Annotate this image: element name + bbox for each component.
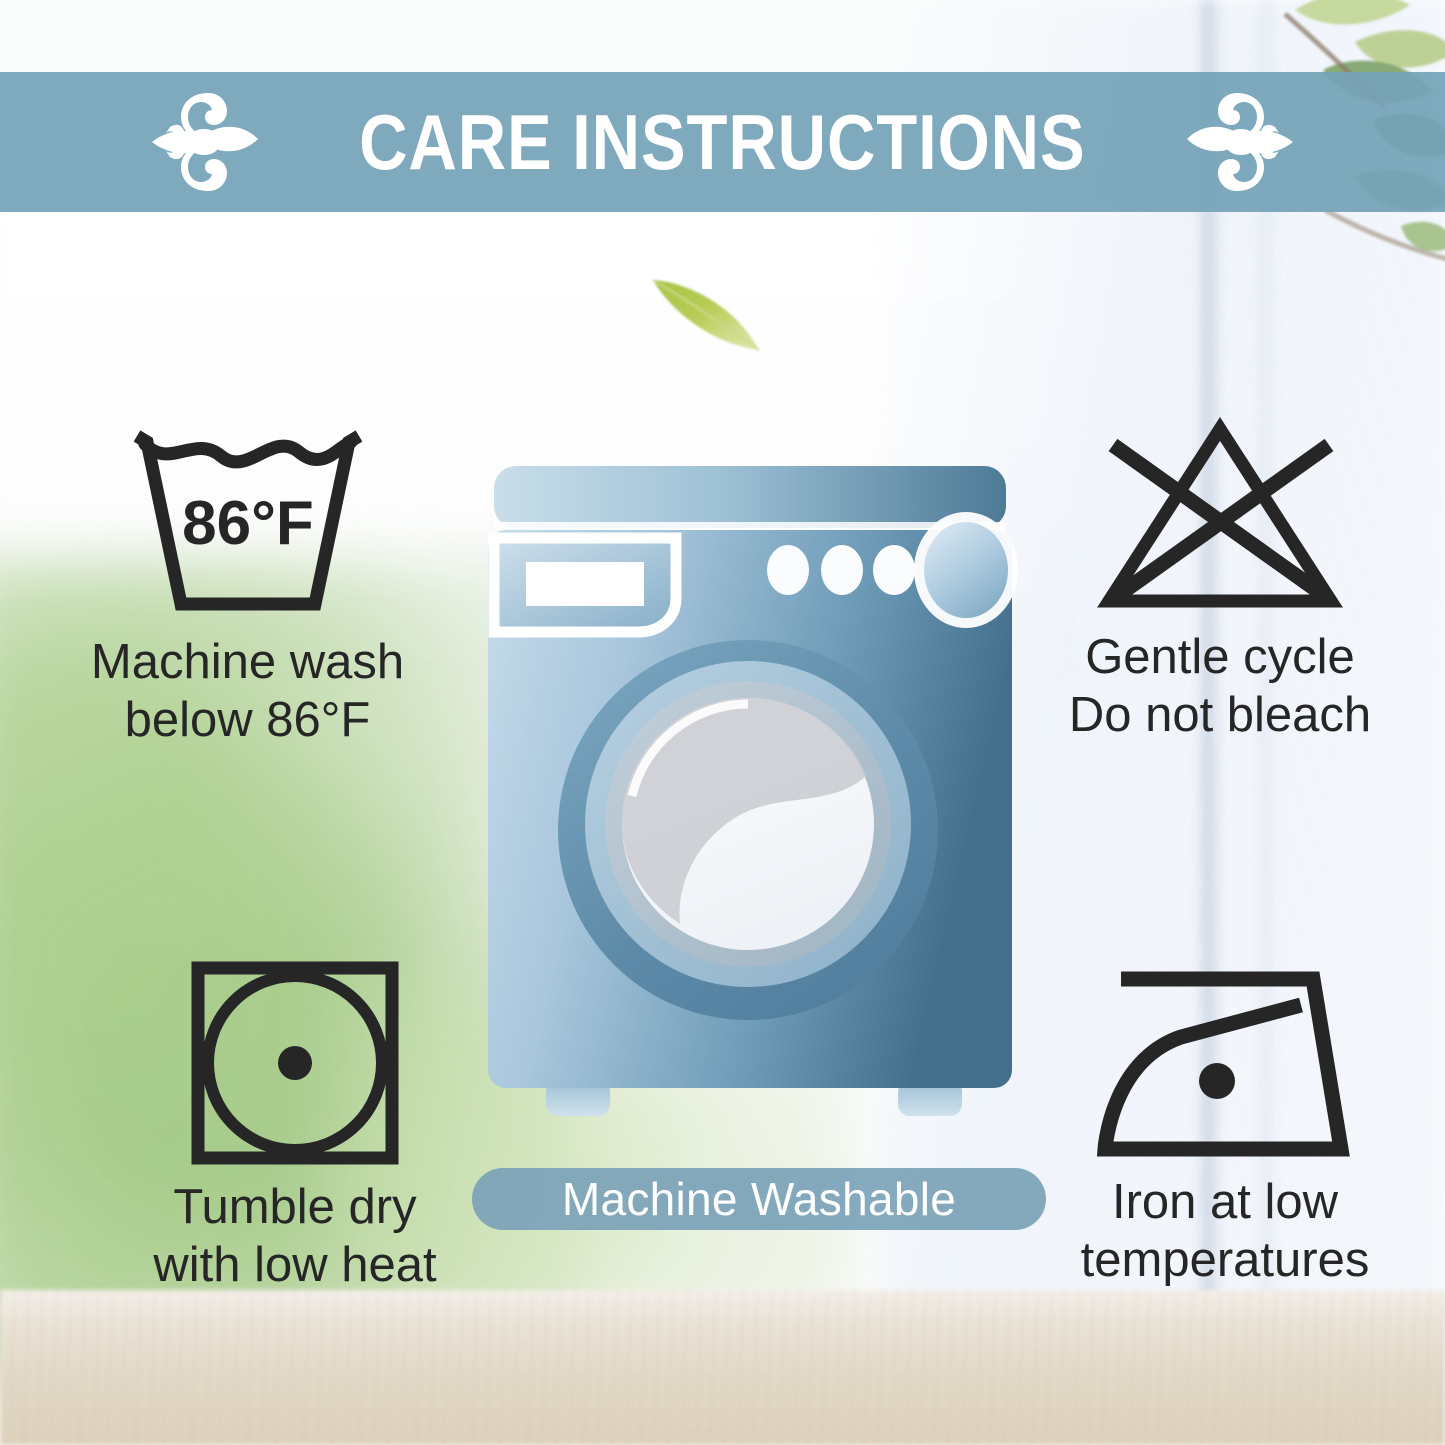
wood-grain-texture xyxy=(0,1290,1445,1445)
leaf-svg xyxy=(645,272,767,358)
care-symbol-iron-low: Iron at low temperatures xyxy=(1010,965,1440,1290)
wash-temperature-value: 86°F xyxy=(182,489,314,558)
detergent-drawer[interactable] xyxy=(494,538,676,632)
iron-one-dot-icon xyxy=(1095,965,1355,1160)
care-label-tumble-dry: Tumble dry with low heat xyxy=(153,1179,436,1295)
control-knob[interactable] xyxy=(914,512,1018,628)
leaf-icon xyxy=(645,272,767,358)
care-symbol-machine-wash: 86°F Machine wash below 86°F xyxy=(25,420,470,750)
care-symbol-tumble-dry: Tumble dry with low heat xyxy=(75,960,515,1295)
header-banner: CARE INSTRUCTIONS xyxy=(0,72,1445,212)
control-button[interactable] xyxy=(767,545,809,595)
fleur-de-lis-icon xyxy=(1179,87,1299,197)
care-label-do-not-bleach: Gentle cycle Do not bleach xyxy=(1069,629,1371,745)
drawer-slot xyxy=(526,562,644,606)
washing-machine-svg xyxy=(480,452,1020,1132)
care-label-iron-low: Iron at low temperatures xyxy=(1081,1174,1370,1290)
fleur-de-lis-icon xyxy=(146,87,266,197)
washing-machine-illustration xyxy=(480,452,1020,1132)
tumble-dry-square-circle-icon xyxy=(188,960,403,1165)
machine-door[interactable] xyxy=(558,640,938,1020)
machine-top-seam xyxy=(494,522,1006,529)
infographic-canvas: CARE INSTRUCTIONS xyxy=(0,0,1445,1445)
control-button[interactable] xyxy=(821,545,863,595)
machine-top-panel xyxy=(494,466,1006,528)
page-title: CARE INSTRUCTIONS xyxy=(359,103,1085,181)
status-badge: Machine Washable xyxy=(472,1168,1046,1230)
care-symbol-do-not-bleach: Gentle cycle Do not bleach xyxy=(1000,415,1440,745)
triangle-crossed-out-icon xyxy=(1095,415,1345,615)
status-badge-label: Machine Washable xyxy=(562,1176,956,1222)
care-label-machine-wash: Machine wash below 86°F xyxy=(91,634,404,750)
control-button[interactable] xyxy=(873,545,915,595)
wash-tub-icon: 86°F xyxy=(123,420,373,620)
